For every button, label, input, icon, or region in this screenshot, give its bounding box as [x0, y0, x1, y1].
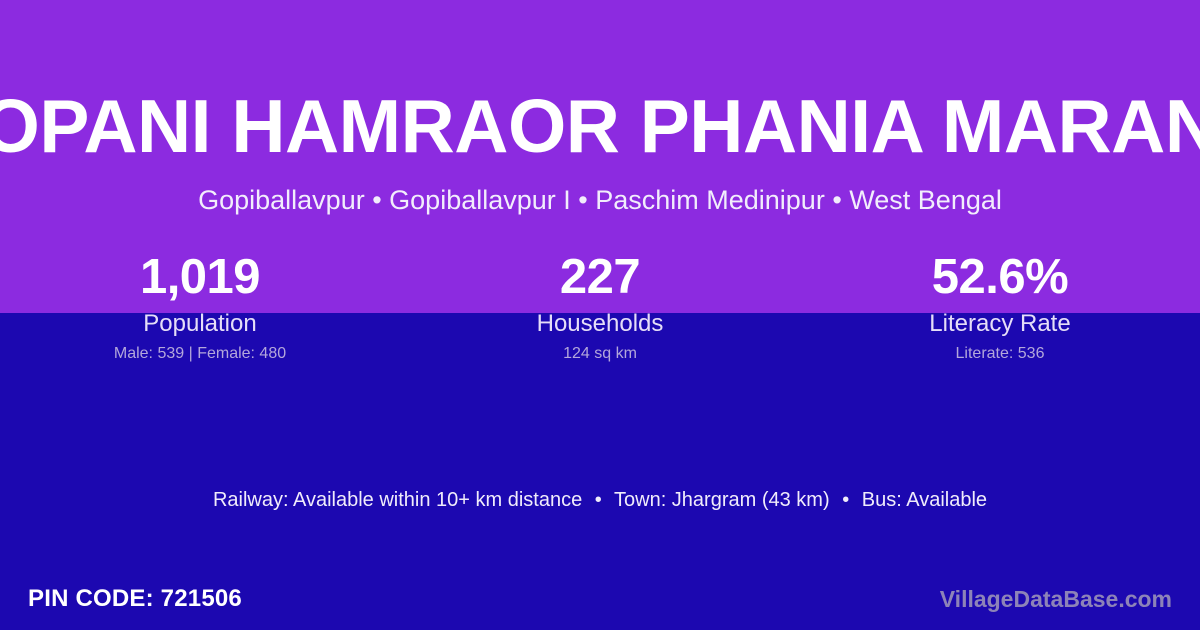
stat-population-label: Population	[143, 309, 256, 339]
infrastructure-separator-2: •	[835, 489, 856, 511]
stat-households-label: Households	[537, 309, 664, 339]
infrastructure-text: Railway: Available within 10+ km distanc…	[213, 485, 987, 515]
pin-code: PIN CODE: 721506	[28, 582, 242, 616]
stat-population-sub: Male: 539 | Female: 480	[114, 344, 286, 364]
stat-households-value: 227	[560, 248, 640, 306]
stat-households-sub: 124 sq km	[563, 344, 637, 364]
stat-literacy-label: Literacy Rate	[929, 309, 1070, 339]
stat-literacy: 52.6% Literacy Rate Literate: 536	[800, 248, 1200, 364]
stat-households: 227 Households 124 sq km	[400, 248, 800, 364]
title-row: GOPANI HAMRAOR PHANIA MARANG	[0, 84, 1200, 168]
infrastructure-town: Town: Jhargram (43 km)	[614, 489, 830, 511]
infrastructure-bus: Bus: Available	[862, 489, 987, 511]
stat-population-value: 1,019	[140, 248, 260, 306]
breadcrumb: Gopiballavpur • Gopiballavpur I • Paschi…	[198, 180, 1002, 220]
stats-row: 1,019 Population Male: 539 | Female: 480…	[0, 248, 1200, 383]
village-info-card: GOPANI HAMRAOR PHANIA MARANG Gopiballavp…	[0, 0, 1200, 630]
stat-population: 1,019 Population Male: 539 | Female: 480	[0, 248, 400, 364]
infrastructure-row: Railway: Available within 10+ km distanc…	[0, 485, 1200, 515]
page-title: GOPANI HAMRAOR PHANIA MARANG	[0, 84, 1200, 168]
brand-watermark: VillageDataBase.com	[940, 582, 1172, 616]
infrastructure-railway: Railway: Available within 10+ km distanc…	[213, 489, 582, 511]
stat-literacy-value: 52.6%	[932, 248, 1068, 306]
infrastructure-separator-1: •	[588, 489, 609, 511]
subtitle-row: Gopiballavpur • Gopiballavpur I • Paschi…	[0, 180, 1200, 220]
stat-literacy-sub: Literate: 536	[956, 344, 1045, 364]
footer: PIN CODE: 721506 VillageDataBase.com	[0, 582, 1200, 616]
